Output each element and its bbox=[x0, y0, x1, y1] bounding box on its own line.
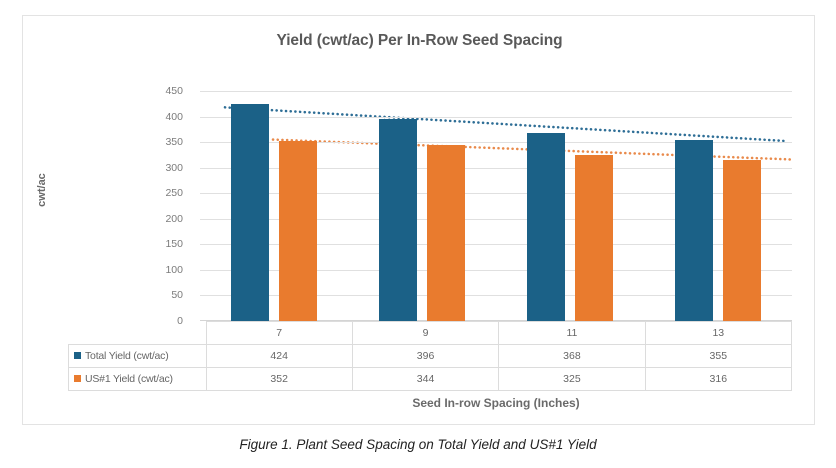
y-tick-label: 50 bbox=[147, 290, 183, 300]
table-row: Total Yield (cwt/ac)424396368355 bbox=[69, 345, 792, 368]
legend-label: Total Yield (cwt/ac) bbox=[85, 350, 169, 362]
table-value-cell: 344 bbox=[352, 368, 498, 391]
y-tick-label: 150 bbox=[147, 239, 183, 249]
table-category-header: 9 bbox=[352, 322, 498, 345]
table-value-cell: 368 bbox=[499, 345, 645, 368]
table-value-cell: 355 bbox=[645, 345, 791, 368]
y-tick-label: 200 bbox=[147, 214, 183, 224]
y-tick-label: 250 bbox=[147, 188, 183, 198]
table-corner-cell bbox=[69, 322, 207, 345]
x-axis-title: Seed In-row Spacing (Inches) bbox=[200, 396, 792, 410]
table-value-cell: 352 bbox=[206, 368, 352, 391]
legend-cell-total-yield: Total Yield (cwt/ac) bbox=[69, 345, 207, 368]
table-value-cell: 396 bbox=[352, 345, 498, 368]
figure-page: Yield (cwt/ac) Per In-Row Seed Spacing c… bbox=[0, 0, 836, 468]
bar-total-yield-9 bbox=[379, 119, 417, 321]
bar-us1-yield-7 bbox=[279, 141, 317, 321]
y-axis-title: cwt/ac bbox=[36, 150, 48, 230]
chart-data-table: 791113Total Yield (cwt/ac)424396368355US… bbox=[68, 321, 792, 391]
y-tick-label: 450 bbox=[147, 86, 183, 96]
table-value-cell: 316 bbox=[645, 368, 791, 391]
legend-cell-us1-yield: US#1 Yield (cwt/ac) bbox=[69, 368, 207, 391]
trendline-total-yield bbox=[225, 107, 787, 141]
gridline bbox=[200, 91, 792, 92]
table-header-row: 791113 bbox=[69, 322, 792, 345]
table-category-header: 13 bbox=[645, 322, 791, 345]
table-category-header: 11 bbox=[499, 322, 645, 345]
table-value-cell: 424 bbox=[206, 345, 352, 368]
bar-total-yield-11 bbox=[527, 133, 565, 321]
bar-total-yield-7 bbox=[231, 104, 269, 321]
bar-us1-yield-13 bbox=[723, 160, 761, 322]
y-tick-label: 350 bbox=[147, 137, 183, 147]
chart-frame: Yield (cwt/ac) Per In-Row Seed Spacing c… bbox=[22, 15, 815, 425]
gridline bbox=[200, 117, 792, 118]
legend-swatch-icon bbox=[74, 352, 81, 359]
y-tick-label: 300 bbox=[147, 163, 183, 173]
bar-us1-yield-9 bbox=[427, 145, 465, 321]
y-tick-label: 400 bbox=[147, 112, 183, 122]
table-value-cell: 325 bbox=[499, 368, 645, 391]
table-category-header: 7 bbox=[206, 322, 352, 345]
y-tick-label: 100 bbox=[147, 265, 183, 275]
plot-area bbox=[200, 91, 792, 321]
legend-label: US#1 Yield (cwt/ac) bbox=[85, 373, 173, 385]
figure-caption: Figure 1. Plant Seed Spacing on Total Yi… bbox=[0, 437, 836, 452]
table-row: US#1 Yield (cwt/ac)352344325316 bbox=[69, 368, 792, 391]
bar-total-yield-13 bbox=[675, 140, 713, 321]
legend-swatch-icon bbox=[74, 375, 81, 382]
bar-us1-yield-11 bbox=[575, 155, 613, 321]
